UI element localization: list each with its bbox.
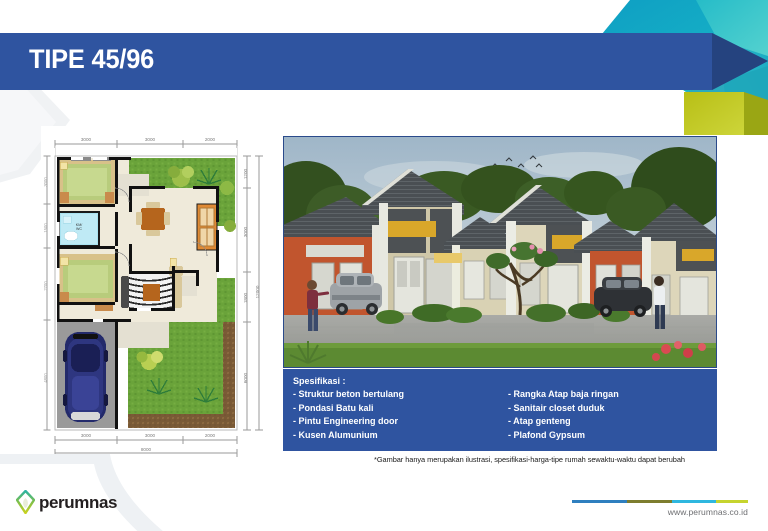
svg-text:2700: 2700 bbox=[43, 281, 48, 291]
spec-item: - Struktur beton bertulang bbox=[293, 388, 502, 402]
svg-text:1200: 1200 bbox=[243, 168, 248, 179]
spec-columns: - Struktur beton bertulang - Pondasi Bat… bbox=[293, 388, 717, 442]
spec-column-left: - Struktur beton bertulang - Pondasi Bat… bbox=[293, 388, 502, 442]
spec-item: - Sanitair closet duduk bbox=[508, 402, 717, 416]
svg-text:1500: 1500 bbox=[43, 223, 48, 233]
spec-item: - Kusen Alumunium bbox=[293, 429, 502, 443]
footer-color-bar bbox=[572, 500, 748, 503]
spec-item: - Pondasi Batu kali bbox=[293, 402, 502, 416]
spec-item: - Pintu Engineering door bbox=[293, 415, 502, 429]
spec-title: Spesifikasi : bbox=[293, 375, 717, 387]
svg-text:3000: 3000 bbox=[81, 137, 92, 142]
svg-text:12000: 12000 bbox=[255, 285, 260, 298]
perumnas-logo: perumnas bbox=[16, 489, 117, 515]
disclaimer-footnote: *Gambar hanya merupakan ilustrasi, spesi… bbox=[374, 455, 718, 464]
svg-text:3000: 3000 bbox=[243, 226, 248, 237]
svg-text:3000: 3000 bbox=[43, 177, 48, 187]
spec-item: - Atap genteng bbox=[508, 415, 717, 429]
floor-plan-image: 3000 3000 2000 bbox=[41, 126, 273, 464]
perumnas-flame-icon bbox=[16, 490, 35, 514]
svg-text:8000: 8000 bbox=[141, 447, 152, 452]
page-title: TIPE 45/96 bbox=[29, 46, 154, 73]
svg-text:2000: 2000 bbox=[205, 137, 216, 142]
footer-website-url: www.perumnas.co.id bbox=[668, 507, 748, 517]
svg-text:3000: 3000 bbox=[145, 433, 156, 438]
svg-text:1800: 1800 bbox=[243, 292, 248, 303]
svg-text:3000: 3000 bbox=[81, 433, 92, 438]
svg-text:4800: 4800 bbox=[43, 373, 48, 383]
spec-column-right: - Rangka Atap baja ringan - Sanitair clo… bbox=[502, 388, 717, 442]
svg-text:WC: WC bbox=[76, 227, 82, 231]
svg-text:6000: 6000 bbox=[243, 372, 248, 383]
perumnas-wordmark: perumnas bbox=[39, 494, 117, 511]
spec-item: - Plafond Gypsum bbox=[508, 429, 717, 443]
specification-box: Spesifikasi : - Struktur beton bertulang… bbox=[283, 369, 717, 451]
svg-text:3000: 3000 bbox=[145, 137, 156, 142]
svg-text:2000: 2000 bbox=[205, 433, 216, 438]
house-render-image bbox=[283, 136, 717, 368]
slide-root: TIPE 45/96 bbox=[0, 0, 768, 531]
spec-item: - Rangka Atap baja ringan bbox=[508, 388, 717, 402]
